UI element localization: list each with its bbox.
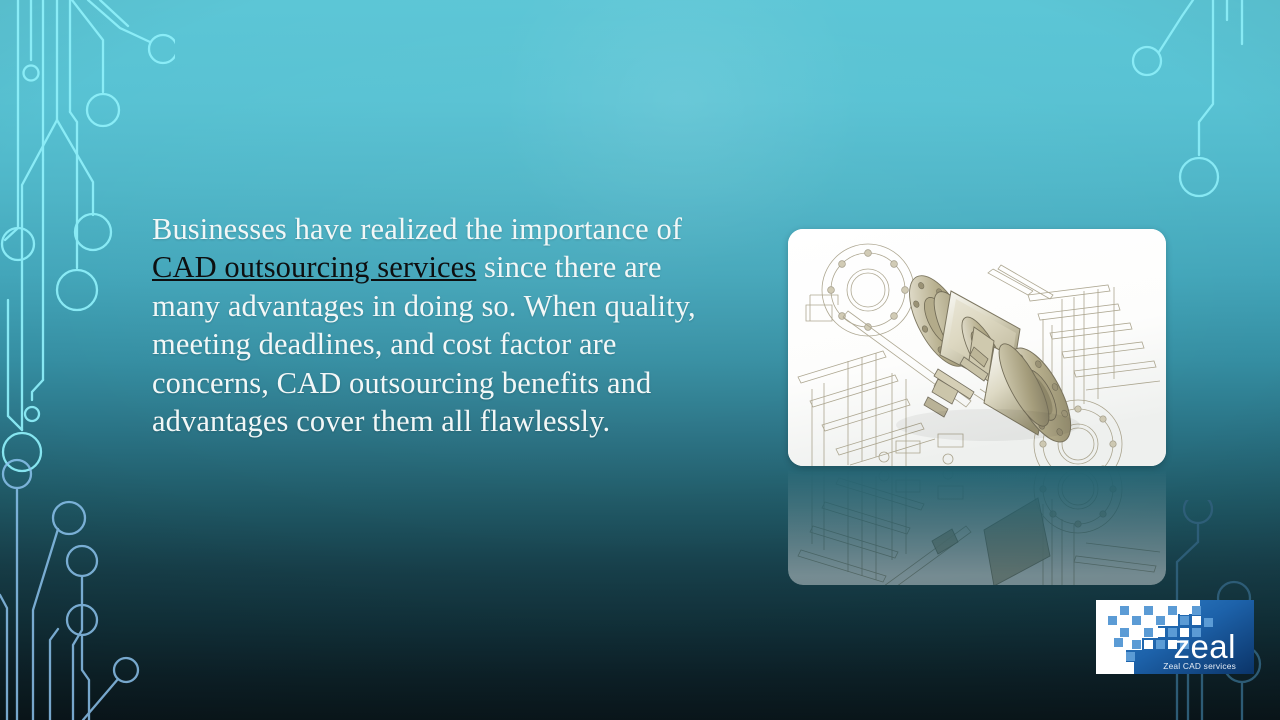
cad-valve-assembly-image — [788, 229, 1166, 466]
presentation-slide: Businesses have realized the importance … — [0, 0, 1280, 720]
logo-wordmark: zeal — [1173, 628, 1236, 665]
paragraph-lead: Businesses have realized the importance … — [152, 212, 682, 246]
logo-tagline: Zeal CAD services — [1163, 661, 1236, 671]
cad-outsourcing-services-link[interactable]: CAD outsourcing services — [152, 250, 476, 284]
slide-body-paragraph: Businesses have realized the importance … — [152, 210, 727, 440]
zeal-logo: zeal Zeal CAD services — [1096, 600, 1254, 674]
